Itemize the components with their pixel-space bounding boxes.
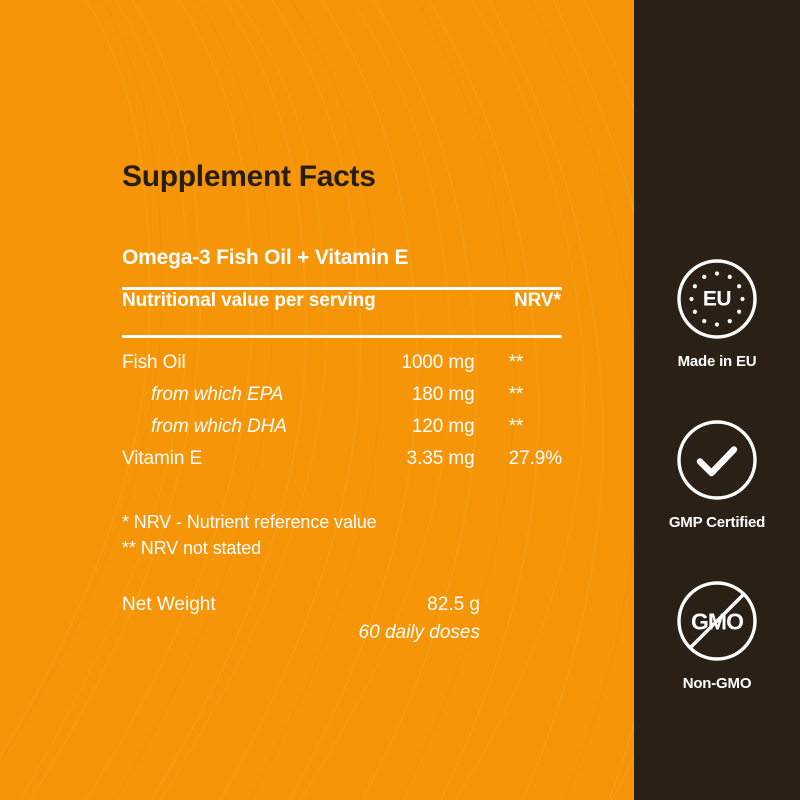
check-circle-icon (676, 419, 758, 501)
row-nutrient-name: Fish Oil (122, 338, 376, 384)
nutrition-body-table: Fish Oil 1000 mg ** from which EPA 180 m… (122, 338, 562, 480)
row-amount: 3.35 mg (376, 448, 475, 480)
facts-content: Supplement Facts Omega-3 Fish Oil + Vita… (0, 0, 634, 646)
daily-doses-value: 60 daily doses (278, 619, 480, 647)
footnotes: * NRV - Nutrient reference value ** NRV … (122, 510, 634, 561)
column-header-nrv: NRV* (480, 290, 562, 322)
net-weight-value: 82.5 g (278, 591, 480, 619)
nutrition-header-table: Nutritional value per serving NRV* (122, 290, 562, 322)
table-row: Fish Oil 1000 mg ** (122, 338, 562, 384)
column-header-nutritional-value: Nutritional value per serving (122, 290, 380, 322)
badge-label-non-gmo: Non-GMO (683, 675, 752, 692)
badge-label-made-in-eu: Made in EU (678, 353, 757, 370)
product-subtitle: Omega-3 Fish Oil + Vitamin E (122, 247, 634, 268)
row-nutrient-name: Vitamin E (122, 448, 376, 480)
row-amount: 120 mg (376, 416, 475, 448)
badge-made-in-eu: EU Made in EU (634, 258, 800, 370)
badge-label-gmp-certified: GMP Certified (669, 514, 765, 531)
page-title: Supplement Facts (122, 162, 634, 192)
row-amount: 180 mg (376, 384, 475, 416)
badge-non-gmo: GMO Non-GMO (634, 580, 800, 692)
net-weight-row: Net Weight 82.5 g (122, 591, 480, 619)
eu-circle-stars-icon: EU (676, 258, 758, 340)
certification-sidebar: EU Made in EU GMP Certified GMO Non-GMO (634, 0, 800, 800)
net-weight-label: Net Weight (122, 591, 278, 646)
row-nutrient-name: from which DHA (122, 416, 376, 448)
supplement-label: Supplement Facts Omega-3 Fish Oil + Vita… (0, 0, 800, 800)
net-weight-block: Net Weight 82.5 g 60 daily doses (122, 591, 480, 646)
no-gmo-icon: GMO (676, 580, 758, 662)
row-nrv: ** (475, 384, 562, 416)
row-nrv: ** (475, 416, 562, 448)
footnote-nrv-definition: * NRV - Nutrient reference value (122, 510, 634, 536)
footnote-nrv-not-stated: ** NRV not stated (122, 536, 634, 562)
row-nrv: ** (475, 338, 562, 384)
row-amount: 1000 mg (376, 338, 475, 384)
row-nutrient-name: from which EPA (122, 384, 376, 416)
column-header-amount (380, 290, 480, 322)
supplement-facts-panel: Supplement Facts Omega-3 Fish Oil + Vita… (0, 0, 634, 800)
table-row: from which DHA 120 mg ** (122, 416, 562, 448)
row-nrv: 27.9% (475, 448, 562, 480)
table-header-row: Nutritional value per serving NRV* (122, 290, 562, 322)
eu-icon-text: EU (703, 288, 731, 311)
table-row: from which EPA 180 mg ** (122, 384, 562, 416)
badge-gmp-certified: GMP Certified (634, 419, 800, 531)
table-row: Vitamin E 3.35 mg 27.9% (122, 448, 562, 480)
